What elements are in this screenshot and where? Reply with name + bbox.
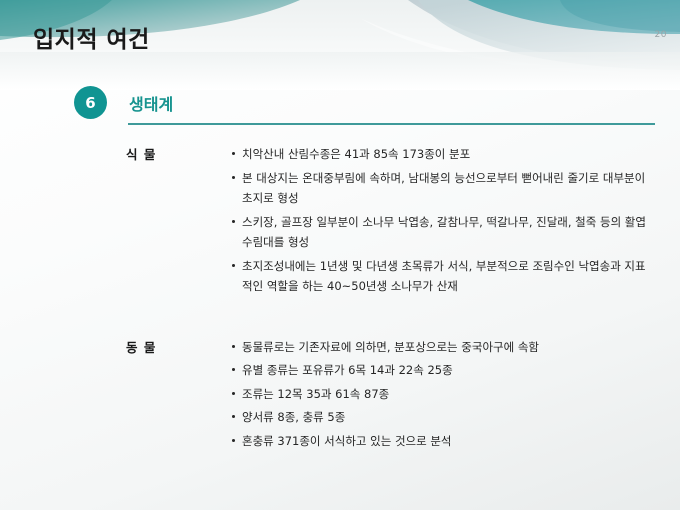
list-item: 스키장, 골프장 일부분이 소나무 낙엽송, 갈참나무, 떡갈나무, 진달래, …	[232, 212, 652, 253]
section-number-badge: 6	[74, 86, 107, 119]
bullet-dot-icon	[232, 368, 235, 371]
page-number: 20	[655, 30, 667, 40]
bullet-dot-icon	[232, 152, 235, 155]
group-label-animals: 동 물	[0, 337, 232, 358]
list-item-text: 동물류로는 기존자료에 의하면, 분포상으로는 중국아구에 속함	[242, 337, 652, 358]
list-item-text: 본 대상지는 온대중부림에 속하며, 남대봉의 능선으로부터 뻗어내린 줄기로 …	[242, 168, 652, 209]
list-item: 치악산내 산림수종은 41과 85속 173종이 분포	[232, 144, 652, 165]
bullet-dot-icon	[232, 220, 235, 223]
page-title: 입지적 여건	[33, 20, 150, 54]
list-item-text: 유별 종류는 포유류가 6목 14과 22속 25종	[242, 360, 652, 381]
bullet-dot-icon	[232, 176, 235, 179]
bullet-dot-icon	[232, 392, 235, 395]
group-label-plants: 식 물	[0, 144, 232, 165]
list-item: 혼충류 371종이 서식하고 있는 것으로 분석	[232, 431, 652, 452]
list-item-text: 스키장, 골프장 일부분이 소나무 낙엽송, 갈참나무, 떡갈나무, 진달래, …	[242, 212, 652, 253]
list-item: 동물류로는 기존자료에 의하면, 분포상으로는 중국아구에 속함	[232, 337, 652, 358]
bullet-dot-icon	[232, 345, 235, 348]
bullet-list-animals: 동물류로는 기존자료에 의하면, 분포상으로는 중국아구에 속함 유별 종류는 …	[232, 337, 680, 452]
section-header: 6 생태계	[74, 86, 173, 119]
list-item-text: 조류는 12목 35과 61속 87종	[242, 384, 652, 405]
content-group-animals: 동 물 동물류로는 기존자료에 의하면, 분포상으로는 중국아구에 속함 유별 …	[0, 337, 680, 452]
section-title: 생태계	[129, 91, 173, 115]
list-item: 유별 종류는 포유류가 6목 14과 22속 25종	[232, 360, 652, 381]
list-item-text: 초지조성내에는 1년생 및 다년생 초목류가 서식, 부분적으로 조림수인 낙엽…	[242, 256, 652, 297]
list-item-text: 양서류 8종, 충류 5종	[242, 407, 652, 428]
list-item: 초지조성내에는 1년생 및 다년생 초목류가 서식, 부분적으로 조림수인 낙엽…	[232, 256, 652, 297]
bullet-dot-icon	[232, 264, 235, 267]
content-group-plants: 식 물 치악산내 산림수종은 41과 85속 173종이 분포 본 대상지는 온…	[0, 144, 680, 297]
list-item: 양서류 8종, 충류 5종	[232, 407, 652, 428]
list-item-text: 치악산내 산림수종은 41과 85속 173종이 분포	[242, 144, 652, 165]
list-item: 본 대상지는 온대중부림에 속하며, 남대봉의 능선으로부터 뻗어내린 줄기로 …	[232, 168, 652, 209]
bullet-list-plants: 치악산내 산림수종은 41과 85속 173종이 분포 본 대상지는 온대중부림…	[232, 144, 680, 297]
content-area: 식 물 치악산내 산림수종은 41과 85속 173종이 분포 본 대상지는 온…	[0, 144, 680, 451]
bullet-dot-icon	[232, 439, 235, 442]
list-item-text: 혼충류 371종이 서식하고 있는 것으로 분석	[242, 431, 652, 452]
bullet-dot-icon	[232, 415, 235, 418]
slide: 입지적 여건 20 6 생태계 식 물 치악산내 산림수종은 41과 85속 1…	[0, 0, 680, 510]
section-divider	[128, 123, 655, 125]
list-item: 조류는 12목 35과 61속 87종	[232, 384, 652, 405]
